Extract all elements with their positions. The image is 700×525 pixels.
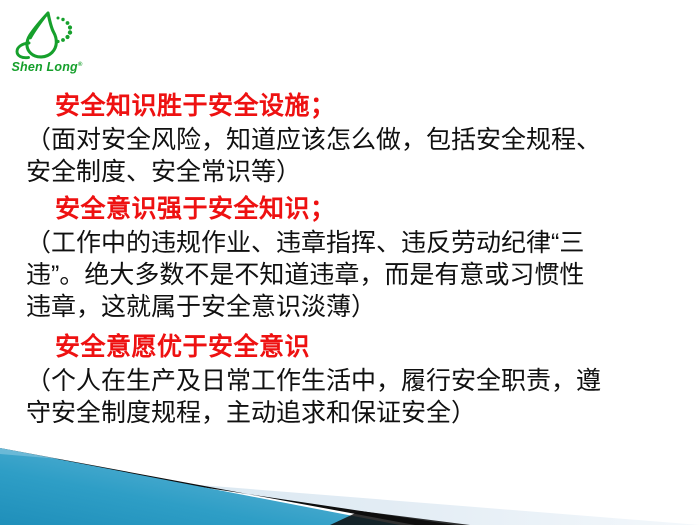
slide-body: 安全知识胜于安全设施； （面对安全风险，知道应该怎么做，包括安全规程、 安全制度… [0, 88, 700, 429]
content-block-1: 安全知识胜于安全设施； （面对安全风险，知道应该怎么做，包括安全规程、 安全制度… [0, 88, 700, 188]
paragraph-3-line-2: 守安全制度规程，主动追求和保证安全） [0, 397, 700, 429]
decorative-diagonal-bands [0, 425, 700, 525]
paragraph-1-line-2: 安全制度、安全常识等） [0, 156, 700, 188]
shen-long-logo: Shen Long® [8, 10, 84, 82]
logo-wordmark-text: Shen Long [11, 60, 77, 74]
paragraph-2-line-1: （工作中的违规作业、违章指挥、违反劳动纪律“三 [0, 227, 700, 259]
heading-line-2: 安全意识强于安全知识； [0, 191, 700, 227]
content-block-2: 安全意识强于安全知识； （工作中的违规作业、违章指挥、违反劳动纪律“三 违”。绝… [0, 191, 700, 323]
slide-canvas: Shen Long® 安全知识胜于安全设施； （面对安全风险，知道应该怎么做，包… [0, 0, 700, 525]
heading-line-3: 安全意愿优于安全意识 [0, 329, 700, 365]
logo-wordmark: Shen Long® [10, 60, 84, 74]
footer-band-graphic [0, 425, 700, 525]
paragraph-2-line-2: 违”。绝大多数不是不知道违章，而是有意或习惯性 [0, 259, 700, 291]
paragraph-1-line-1: （面对安全风险，知道应该怎么做，包括安全规程、 [0, 124, 700, 156]
water-droplet-icon [8, 10, 84, 60]
paragraph-2-line-3: 违章，这就属于安全意识淡薄） [0, 291, 700, 323]
registered-trademark-icon: ® [78, 62, 83, 68]
heading-line-1: 安全知识胜于安全设施； [0, 88, 700, 124]
paragraph-3-line-1: （个人在生产及日常工作生活中，履行安全职责，遵 [0, 365, 700, 397]
content-block-3: 安全意愿优于安全意识 （个人在生产及日常工作生活中，履行安全职责，遵 守安全制度… [0, 329, 700, 429]
